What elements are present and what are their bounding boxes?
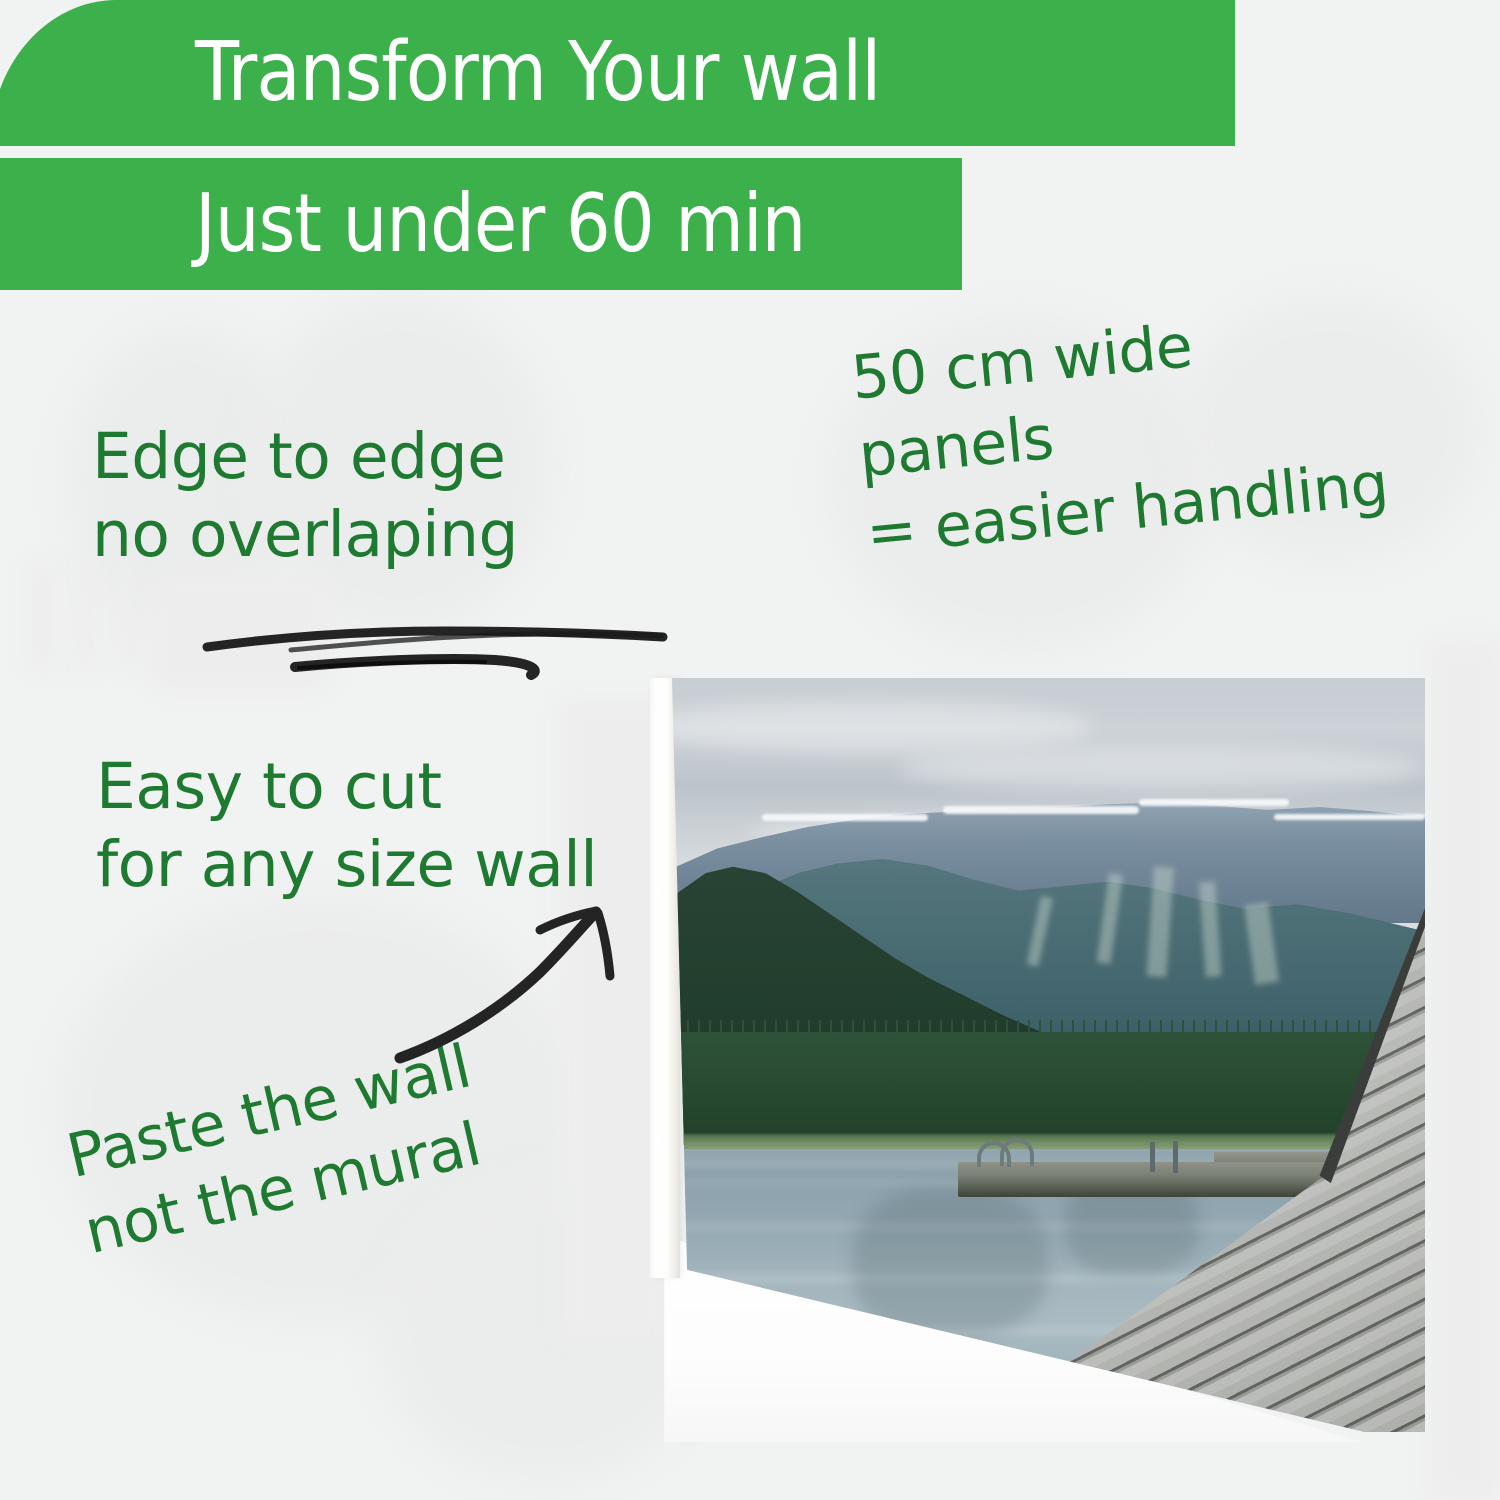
photo-dock-ladder-icon <box>1000 1138 1034 1166</box>
headline-banner-secondary: Just under 60 min <box>0 158 962 290</box>
infographic-canvas: Transform Your wall Just under 60 min Ed… <box>0 0 1500 1500</box>
photo-dock-post <box>1150 1142 1155 1172</box>
headline-banner-primary: Transform Your wall <box>0 0 1235 146</box>
photo-treeline <box>672 1032 1425 1145</box>
background-streak <box>150 570 330 690</box>
photo-snowcap <box>762 814 928 821</box>
background-streak <box>1430 640 1500 1500</box>
feature-text-easy-to-cut: Easy to cut for any size wall <box>96 748 597 904</box>
feature-text-edge-to-edge: Edge to edge no overlaping <box>92 418 518 574</box>
photo-dock-post <box>1173 1141 1178 1173</box>
wallpaper-mural-panel <box>650 672 1425 1432</box>
photo-snowcap <box>1139 799 1290 806</box>
headline-banner-primary-text: Transform Your wall <box>195 32 880 114</box>
photo-cloud <box>898 746 1425 791</box>
photo-snowcap <box>943 806 1139 814</box>
feature-text-panel-width: 50 cm wide panels = easier handling <box>848 290 1392 573</box>
background-streak <box>118 560 138 670</box>
photo-treetops <box>672 1020 1425 1046</box>
headline-banner-secondary-text: Just under 60 min <box>195 184 805 264</box>
photo-snowcap <box>1274 814 1425 820</box>
background-streak <box>30 560 54 670</box>
background-streak <box>75 560 95 670</box>
photo-reflection <box>853 1189 1049 1336</box>
